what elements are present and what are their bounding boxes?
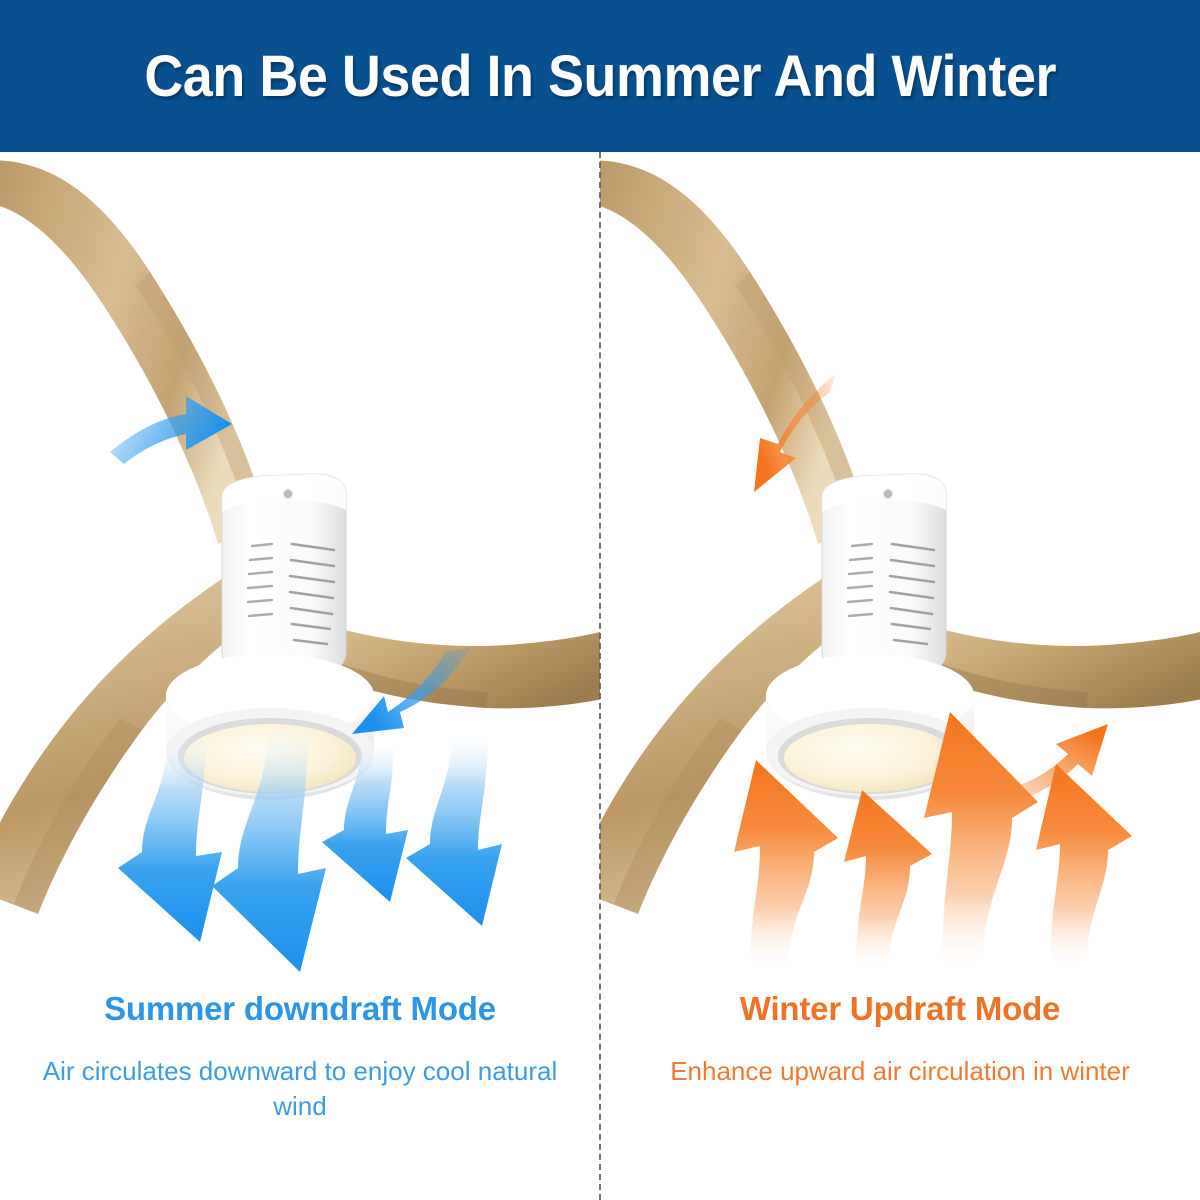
led-light-panel [784, 724, 956, 792]
summer-caption-title: Summer downdraft Mode [0, 990, 600, 1028]
winter-caption-block: Winter Updraft Mode Enhance upward air c… [600, 990, 1200, 1089]
panel-divider [599, 152, 601, 1200]
page-title: Can Be Used In Summer And Winter [144, 43, 1056, 110]
summer-caption-block: Summer downdraft Mode Air circulates dow… [0, 990, 600, 1123]
panel-summer-downdraft: Summer downdraft Mode Air circulates dow… [0, 152, 600, 1200]
summer-fan-illustration [0, 152, 600, 972]
winter-caption-body: Enhance upward air circulation in winter [600, 1054, 1200, 1089]
header-banner: Can Be Used In Summer And Winter [0, 0, 1200, 152]
summer-caption-body: Air circulates downward to enjoy cool na… [0, 1054, 600, 1123]
housing-screw-icon [284, 490, 293, 499]
panel-winter-updraft: Winter Updraft Mode Enhance upward air c… [600, 152, 1200, 1200]
fan-motor-housing [222, 474, 346, 676]
summer-fan-scene [0, 152, 600, 972]
winter-fan-scene [600, 152, 1200, 972]
fan-motor-housing [822, 474, 946, 676]
winter-caption-title: Winter Updraft Mode [600, 990, 1200, 1028]
winter-fan-illustration [600, 152, 1200, 972]
housing-screw-icon [884, 490, 893, 499]
